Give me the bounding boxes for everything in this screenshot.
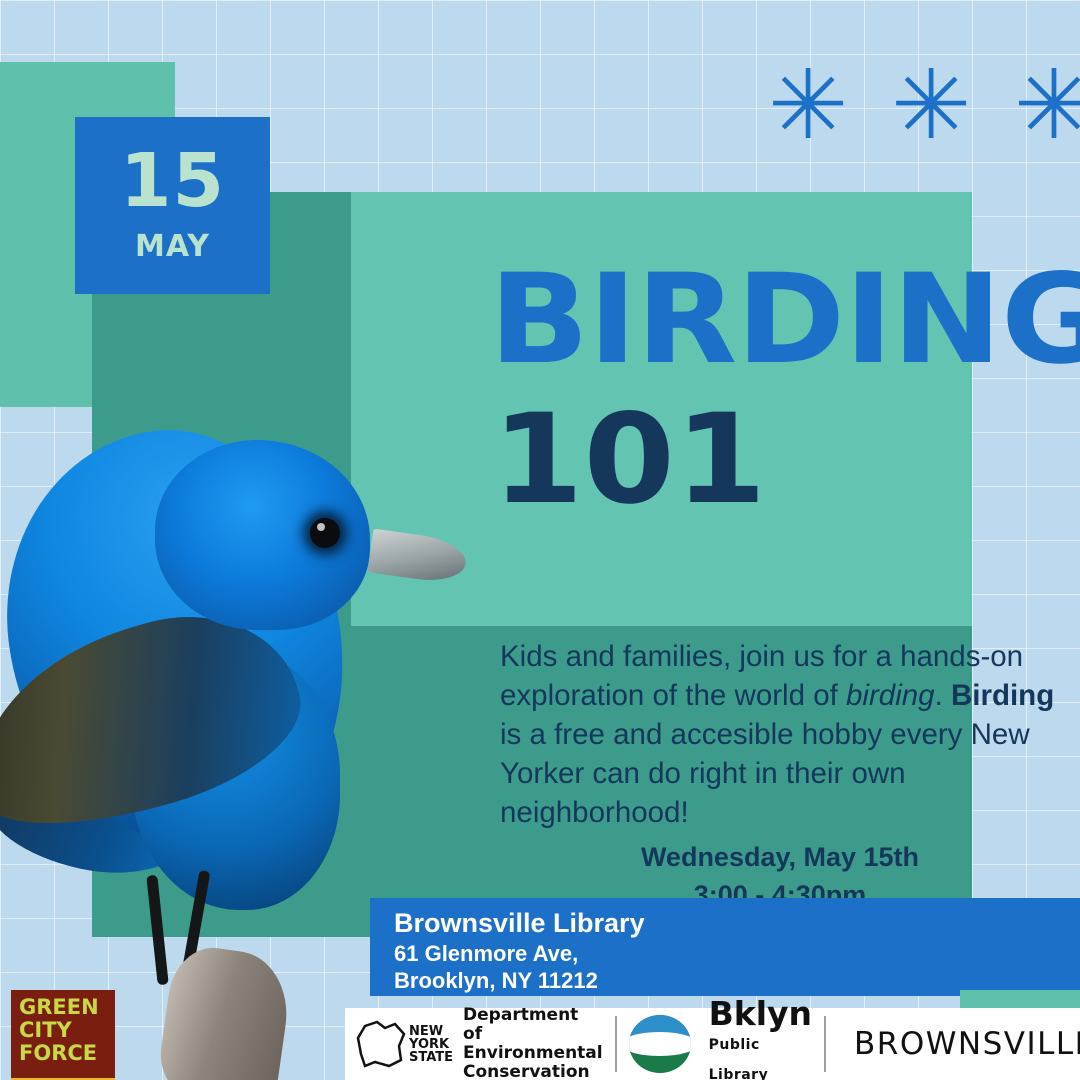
dec-line2: Environmental — [463, 1044, 603, 1063]
event-date: Wednesday, May 15th — [500, 838, 1060, 876]
venue-street: 61 Glenmore Ave, — [394, 940, 1080, 967]
dec-emblem-hill — [629, 1032, 691, 1055]
tree-branch — [155, 942, 295, 1080]
partner-logos-strip: NEW YORK STATE Department of Environment… — [345, 1008, 1080, 1080]
gcf-line2: CITY — [19, 1019, 115, 1042]
bird-leg-left — [146, 875, 168, 986]
dec-line3: Conservation — [463, 1063, 603, 1080]
brownsville-wordmark: BROWNSVILLE — [854, 1026, 1080, 1062]
venue-address-banner: Brownsville Library 61 Glenmore Ave, Bro… — [370, 898, 1080, 996]
dec-emblem-icon — [629, 1015, 691, 1073]
description-part2: . — [935, 679, 951, 712]
description-italic-birding: birding — [846, 679, 935, 712]
date-badge-month: MAY — [75, 218, 270, 262]
new-york-state-outline-icon — [355, 1016, 407, 1072]
nys-line2: YORK — [409, 1038, 453, 1051]
logo-divider-1 — [615, 1016, 617, 1072]
nys-line3: STATE — [409, 1051, 453, 1064]
date-badge: 15 MAY — [75, 117, 270, 294]
bird-beak — [367, 529, 468, 586]
asterisk-decoration-icon: ✳ ✳ ✳ — [768, 60, 1018, 150]
green-city-force-logo: GREEN CITY FORCE — [11, 990, 115, 1080]
date-badge-day: 15 — [75, 117, 270, 218]
dec-line1: Department of — [463, 1006, 603, 1044]
bklyn-subtitle: Public Library — [709, 1030, 812, 1080]
brooklyn-public-library-logo: Bklyn Public Library — [709, 999, 812, 1080]
bird-eye — [310, 518, 340, 548]
gcf-line1: GREEN — [19, 996, 115, 1019]
bklyn-wordmark: Bklyn — [709, 994, 812, 1033]
logo-divider-2 — [824, 1016, 826, 1072]
description-bold-birding: Birding — [951, 679, 1054, 712]
venue-name: Brownsville Library — [394, 907, 1080, 940]
dec-department-label: Department of Environmental Conservation — [463, 1006, 603, 1080]
gcf-line3: FORCE — [19, 1042, 115, 1065]
description-part3: is a free and accesible hobby every New … — [500, 718, 1030, 829]
event-description: Kids and families, join us for a hands-o… — [500, 637, 1060, 832]
nys-line1: NEW — [409, 1025, 453, 1038]
new-york-state-label: NEW YORK STATE — [409, 1025, 453, 1064]
poster-canvas: ✳ ✳ ✳ 15 MAY BIRDING 101 Kids and famili… — [0, 0, 1080, 1080]
page-title-line2: 101 — [492, 398, 766, 522]
page-title-line1: BIRDING — [489, 258, 1080, 382]
